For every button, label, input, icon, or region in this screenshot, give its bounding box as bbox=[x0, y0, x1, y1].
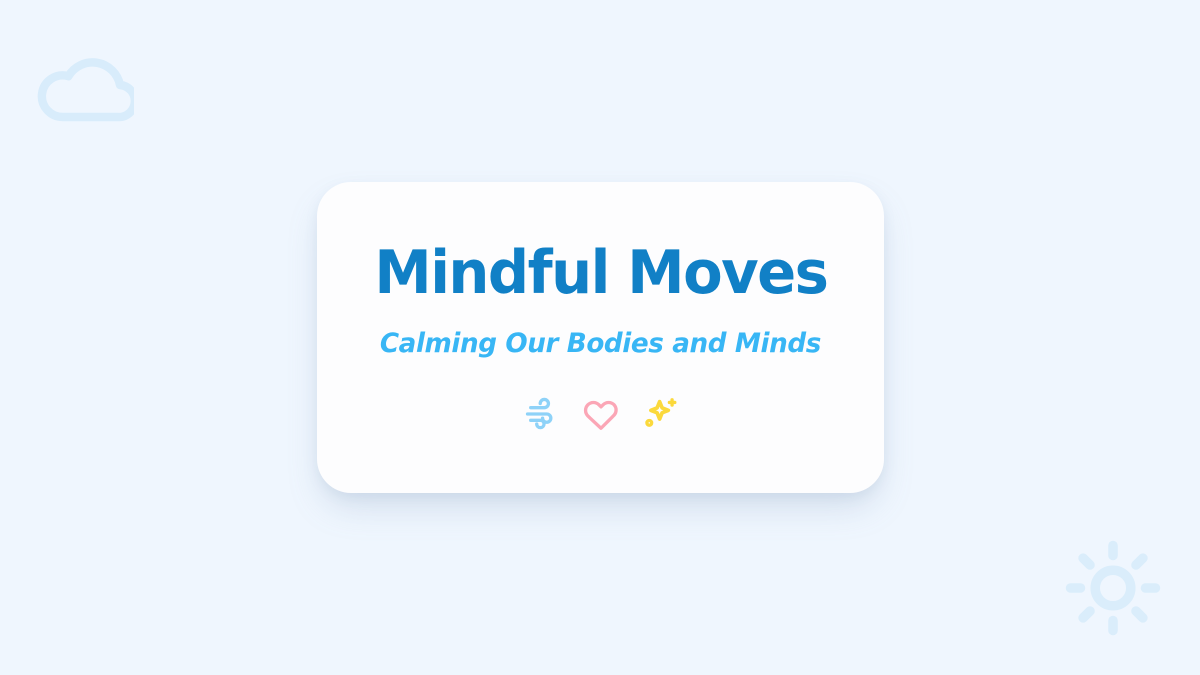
sun-icon-glyph bbox=[1061, 536, 1165, 640]
icon-row bbox=[522, 395, 680, 433]
title-card: Mindful Moves Calming Our Bodies and Min… bbox=[317, 182, 884, 493]
wind-icon bbox=[522, 395, 560, 433]
page-subtitle: Calming Our Bodies and Minds bbox=[380, 329, 821, 359]
sun-icon bbox=[1061, 536, 1165, 640]
sparkles-icon-glyph bbox=[642, 395, 680, 433]
page-title: Mindful Moves bbox=[374, 242, 827, 304]
wind-icon-glyph bbox=[522, 395, 560, 433]
sparkles-icon bbox=[642, 395, 680, 433]
heart-icon bbox=[582, 395, 620, 433]
heart-icon-glyph bbox=[582, 395, 620, 433]
cloud-icon bbox=[34, 47, 134, 127]
cloud-icon-glyph bbox=[34, 47, 134, 127]
slide-canvas: Mindful Moves Calming Our Bodies and Min… bbox=[0, 0, 1200, 675]
